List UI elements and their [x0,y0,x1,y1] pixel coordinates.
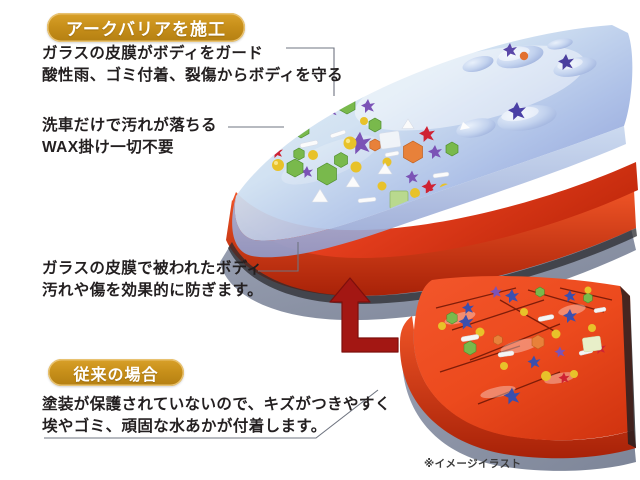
callout-conventional-case-line1: 塗装が保護されていないので、キズがつきやすく [42,394,391,416]
callout-glass-film: ガラスの皮膜で被われたボディ 汚れや傷を効果的に防ぎます。 [42,258,263,303]
illustration-figure: アークバリアを施工 ガラスの皮膜がボディをガード 酸性雨、ゴミ付着、裂傷からボデ… [0,0,640,480]
callout-wash-only-line1: 洗車だけで汚れが落ちる [42,115,217,137]
callout-conventional-case-line2: 埃やゴミ、頑固な水あかが付着します。 [42,416,391,438]
callout-wash-only: 洗車だけで汚れが落ちる WAX掛け一切不要 [42,115,217,160]
image-disclaimer: ※イメージイラスト [424,456,521,471]
badge-arc-barrier: アークバリアを施工 [47,13,245,42]
badge-conventional-case: 従来の場合 [48,359,184,386]
callout-glass-film-line2: 汚れや傷を効果的に防ぎます。 [42,280,263,302]
callout-glass-guard-line2: 酸性雨、ゴミ付着、裂傷からボディを守る [42,65,343,87]
callout-glass-film-line1: ガラスの皮膜で被われたボディ [42,258,263,280]
callout-glass-guard-line1: ガラスの皮膜がボディをガード [42,43,343,65]
callout-wash-only-line2: WAX掛け一切不要 [42,137,217,159]
callout-glass-guard: ガラスの皮膜がボディをガード 酸性雨、ゴミ付着、裂傷からボディを守る [42,43,343,88]
lower-panel-group [400,276,636,471]
callout-conventional-case: 塗装が保護されていないので、キズがつきやすく 埃やゴミ、頑固な水あかが付着します… [42,394,391,439]
